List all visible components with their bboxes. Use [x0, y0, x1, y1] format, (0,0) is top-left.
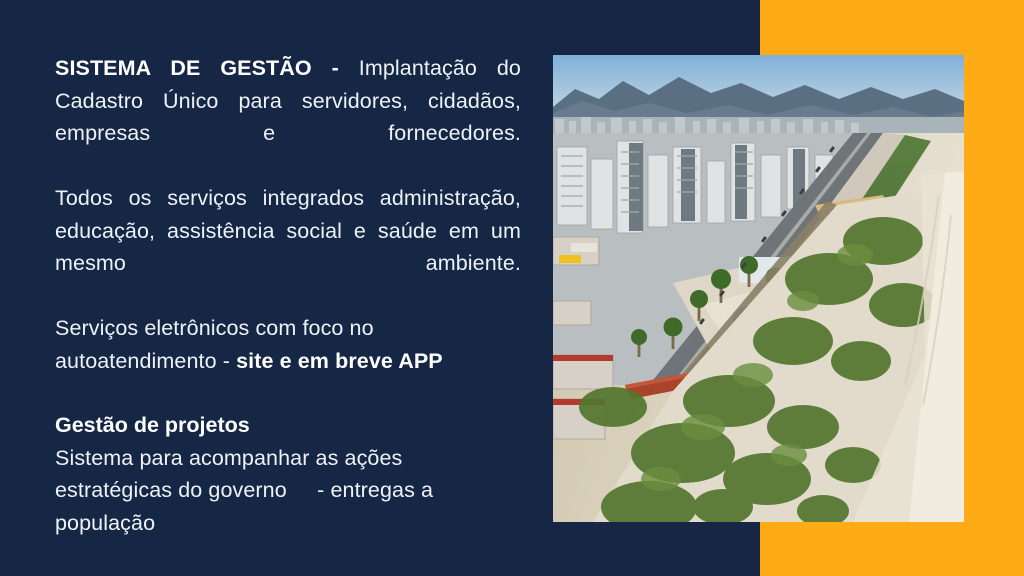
paragraph-servicos-eletronicos-bold: site e em breve APP: [236, 349, 443, 373]
paragraph-servicos-integrados: Todos os serviços integrados administraç…: [55, 182, 521, 312]
gestao-line-3: população: [55, 511, 155, 535]
gestao-line-2-spacer: [287, 478, 317, 502]
paragraph-spacer: [55, 377, 521, 409]
photo-aerial-coastal-city: [553, 55, 964, 522]
gestao-line-2: estratégicas do governo: [55, 478, 287, 502]
paragraph-sistema-de-gestao: SISTEMA DE GESTÃO - Implantação do Cadas…: [55, 52, 521, 182]
gestao-line-1: Sistema para acompanhar as ações: [55, 446, 402, 470]
paragraph-servicos-integrados-body: Todos os serviços integrados administraç…: [55, 186, 521, 275]
paragraph-servicos-eletronicos: Serviços eletrônicos com foco no autoate…: [55, 312, 521, 377]
lead-label-sistema-de-gestao: SISTEMA DE GESTÃO -: [55, 56, 359, 80]
heading-gestao-de-projetos: Gestão de projetos: [55, 409, 521, 442]
photo-illustration: [553, 55, 964, 522]
presentation-slide: SISTEMA DE GESTÃO - Implantação do Cadas…: [0, 0, 1024, 576]
gestao-line-2-cont: - entregas a: [317, 478, 433, 502]
paragraph-gestao-de-projetos: Sistema para acompanhar as ações estraté…: [55, 442, 521, 540]
text-column: SISTEMA DE GESTÃO - Implantação do Cadas…: [55, 52, 521, 539]
